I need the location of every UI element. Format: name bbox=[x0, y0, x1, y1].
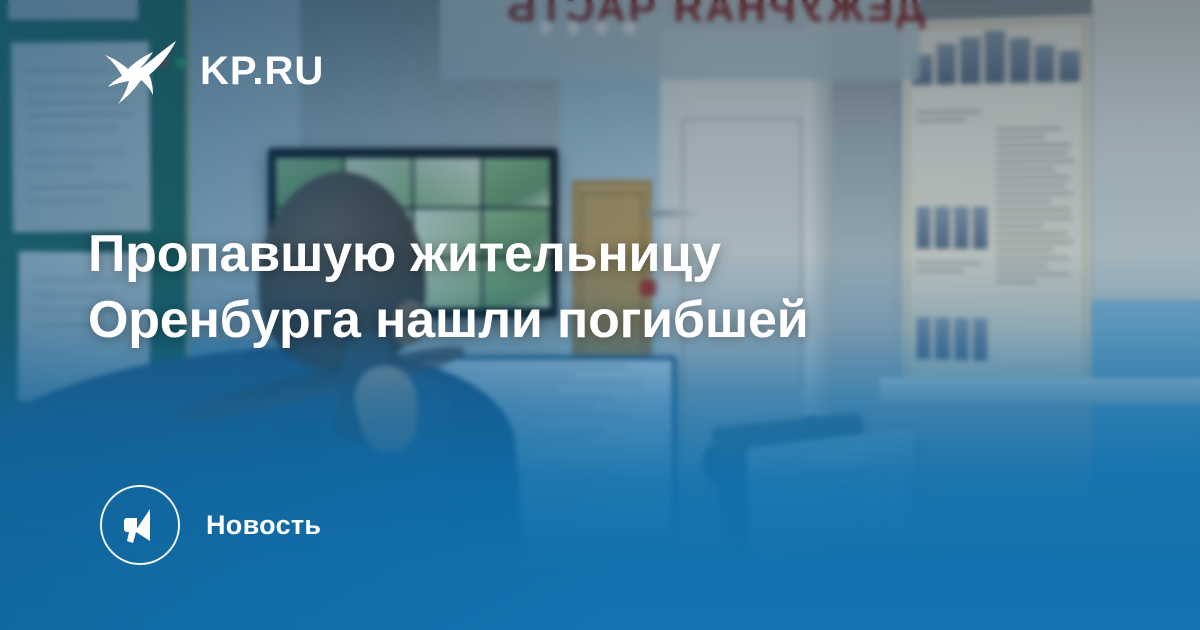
social-share-card: ДЕЖУРНАЯ ЧАСТЬ bbox=[0, 0, 1200, 630]
page-title: Пропавшую жительницу Оренбурга нашли пог… bbox=[88, 222, 918, 353]
swallow-bird-icon bbox=[104, 36, 178, 106]
megaphone-icon bbox=[100, 485, 180, 565]
brand-lockup[interactable]: KP.RU bbox=[104, 36, 324, 106]
brand-name: KP.RU bbox=[200, 51, 324, 91]
badge-label: Новость bbox=[206, 510, 321, 541]
status-badge[interactable]: Новость bbox=[100, 485, 321, 565]
card-content: KP.RU Пропавшую жительницу Оренбурга наш… bbox=[0, 0, 1200, 630]
